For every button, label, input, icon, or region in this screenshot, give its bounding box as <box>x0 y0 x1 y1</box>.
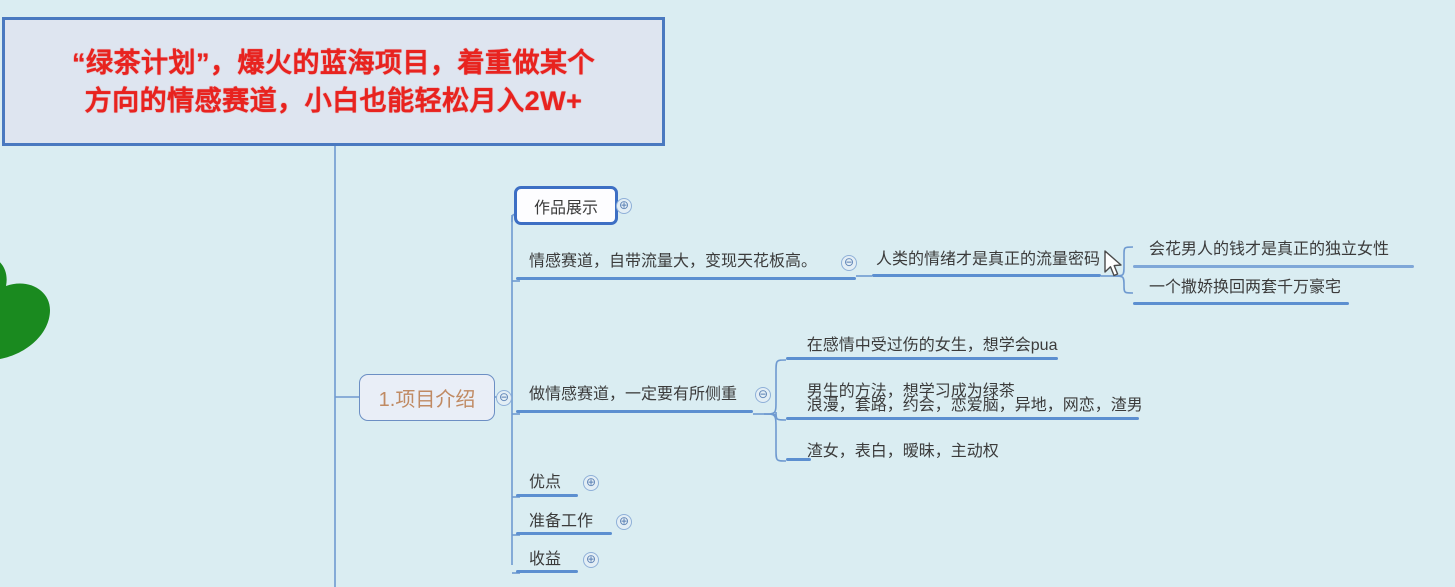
toggle-project-intro-glyph: ⊖ <box>499 390 509 404</box>
toggle-works-showcase-glyph: ⊕ <box>619 198 629 212</box>
node-keyword-list[interactable]: 浪漫，套路，约会，恋爱脑，异地，网恋，渣男 渣女，表白，暧昧，主动权 <box>789 371 1143 486</box>
underline-emotion-traffic-code <box>872 274 1101 277</box>
toggle-preparation-glyph: ⊕ <box>619 514 629 528</box>
node-mansion-swap[interactable]: 一个撒娇换回两套千万豪宅 <box>1149 276 1341 299</box>
node-empty-stub[interactable] <box>789 441 807 510</box>
node-keyword-list-line1: 浪漫，套路，约会，恋爱脑，异地，网恋，渣男 <box>807 397 1143 414</box>
node-emotion-track[interactable]: 情感赛道，自带流量大，变现天花板高。 <box>529 250 817 273</box>
underline-empty-stub <box>786 458 811 461</box>
toggle-preparation[interactable]: ⊕ <box>616 514 632 530</box>
underline-independent-woman <box>1133 265 1414 268</box>
toggle-advantages-glyph: ⊕ <box>586 475 596 489</box>
toggle-advantages[interactable]: ⊕ <box>583 475 599 491</box>
node-preparation[interactable]: 准备工作 <box>529 510 593 533</box>
root-title-box[interactable]: “绿茶计划”，爆火的蓝海项目，着重做某个 方向的情感赛道，小白也能轻松月入2W+ <box>2 17 665 146</box>
underline-advantages <box>516 494 578 497</box>
underline-hurt-women <box>786 357 1058 360</box>
node-hurt-women-line1: 在感情中受过伤的女生，想学会pua <box>807 337 1058 354</box>
node-advantages[interactable]: 优点 <box>529 471 561 494</box>
root-title-line1: “绿茶计划”，爆火的蓝海项目，着重做某个 <box>34 44 634 82</box>
node-keyword-list-line2: 渣女，表白，暧昧，主动权 <box>807 443 999 460</box>
toggle-project-intro[interactable]: ⊖ <box>496 390 512 406</box>
toggle-emotion-track-glyph: ⊖ <box>844 255 854 269</box>
node-works-showcase-label: 作品展示 <box>534 194 598 218</box>
root-title-line2: 方向的情感赛道，小白也能轻松月入2W+ <box>34 82 634 120</box>
underline-mansion-swap <box>1133 302 1349 305</box>
node-project-intro[interactable]: 1.项目介绍 <box>359 374 495 421</box>
node-project-intro-label: 1.项目介绍 <box>379 383 476 412</box>
toggle-income-glyph: ⊕ <box>586 552 596 566</box>
node-independent-woman[interactable]: 会花男人的钱才是真正的独立女性 <box>1149 238 1389 261</box>
node-works-showcase[interactable]: 作品展示 <box>514 186 618 225</box>
toggle-track-focus[interactable]: ⊖ <box>755 387 771 403</box>
toggle-works-showcase[interactable]: ⊕ <box>616 198 632 214</box>
node-track-focus[interactable]: 做情感赛道，一定要有所侧重 <box>529 383 737 406</box>
mouse-pointer-icon <box>1103 250 1125 280</box>
node-income[interactable]: 收益 <box>529 548 561 571</box>
underline-emotion-track <box>516 277 856 280</box>
root-title-text: “绿茶计划”，爆火的蓝海项目，着重做某个 方向的情感赛道，小白也能轻松月入2W+ <box>34 44 634 120</box>
underline-preparation <box>516 532 612 535</box>
underline-track-focus <box>516 410 753 413</box>
toggle-emotion-track[interactable]: ⊖ <box>841 255 857 271</box>
node-emotion-traffic-code[interactable]: 人类的情绪才是真正的流量密码 <box>876 248 1100 271</box>
toggle-income[interactable]: ⊕ <box>583 552 599 568</box>
underline-income <box>516 570 578 573</box>
toggle-track-focus-glyph: ⊖ <box>758 387 768 401</box>
underline-keyword-list <box>786 417 1139 420</box>
mindmap-canvas: “绿茶计划”，爆火的蓝海项目，着重做某个 方向的情感赛道，小白也能轻松月入2W+… <box>0 0 1455 587</box>
